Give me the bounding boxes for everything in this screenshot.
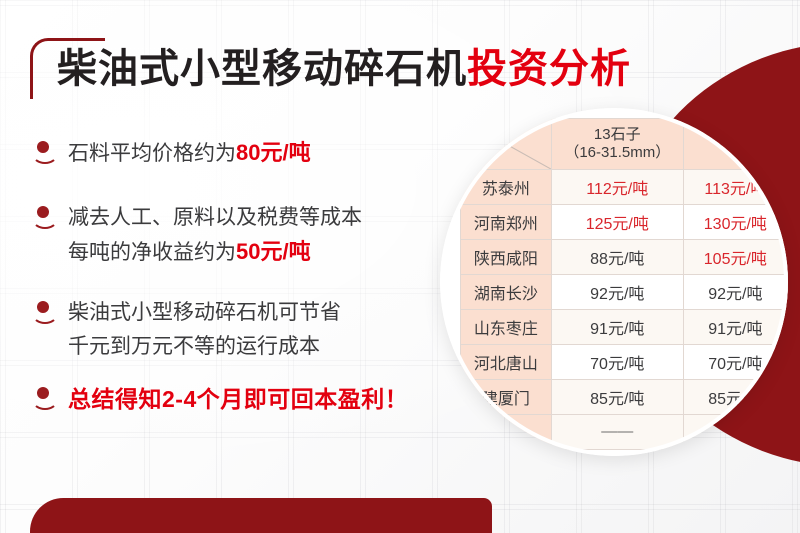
row-value-1: 85元/吨 bbox=[551, 380, 683, 415]
decorative-red-bar-bottom bbox=[30, 498, 492, 533]
bullet-line: 石料平均价格约为80元/吨 bbox=[68, 136, 430, 171]
page-title-accent: 投资分析 bbox=[467, 47, 631, 91]
page-title: 柴油式小型移动碎石机投资分析 bbox=[57, 47, 631, 91]
diagonal-slash-icon bbox=[461, 119, 551, 169]
table-row: —— bbox=[461, 415, 788, 450]
bullet-text: 石料平均价格约为 bbox=[68, 142, 236, 165]
table-row: 山东枣庄 91元/吨 91元/吨 bbox=[461, 310, 788, 345]
bullet-text: 千元到万元不等的运行成本 bbox=[68, 335, 320, 358]
row-value-2: 130元/吨 bbox=[683, 205, 787, 240]
page-title-main: 柴油式小型移动碎石机 bbox=[57, 47, 467, 91]
row-value-1: 88元/吨 bbox=[551, 240, 683, 275]
bullet-text: 减去人工、原料以及税费等成本 bbox=[68, 206, 362, 229]
table-row: 建厦门 85元/吨 85元/吨 bbox=[461, 380, 788, 415]
row-value-1: —— bbox=[551, 415, 683, 450]
table-row: 陕西咸阳 88元/吨 105元/吨 bbox=[461, 240, 788, 275]
table-row: 河北唐山 70元/吨 70元/吨 bbox=[461, 345, 788, 380]
row-value-2: 85元/吨 bbox=[683, 380, 787, 415]
bullet-line: 减去人工、原料以及税费等成本 bbox=[68, 201, 430, 235]
row-value-2 bbox=[683, 415, 787, 450]
list-item: 柴油式小型移动碎石机可节省 千元到万元不等的运行成本 bbox=[30, 296, 430, 364]
table-header-row: 13石子 （16-31.5mm） （10-… bbox=[461, 119, 788, 170]
table-row: 湖南长沙 92元/吨 92元/吨 bbox=[461, 275, 788, 310]
table-row: 河南郑州 125元/吨 130元/吨 bbox=[461, 205, 788, 240]
row-value-2: 91元/吨 bbox=[683, 310, 787, 345]
bullet-dot-arc-icon bbox=[32, 141, 54, 161]
price-table: 13石子 （16-31.5mm） （10-… 苏泰州 112元/吨 113元/吨 bbox=[460, 118, 788, 450]
table-col-header-1: 13石子 （16-31.5mm） bbox=[551, 119, 683, 170]
poster-canvas: 柴油式小型移动碎石机投资分析 石料平均价格约为80元/吨 减去人工、原料以及税费… bbox=[0, 0, 800, 533]
bullet-dot-arc-icon bbox=[32, 301, 54, 321]
row-region: 山东枣庄 bbox=[461, 310, 552, 345]
list-item: 总结得知2-4个月即可回本盈利！ bbox=[30, 382, 430, 416]
price-table-body: 苏泰州 112元/吨 113元/吨 河南郑州 125元/吨 130元/吨 陕西咸… bbox=[461, 170, 788, 450]
row-value-1: 125元/吨 bbox=[551, 205, 683, 240]
row-value-2: 70元/吨 bbox=[683, 345, 787, 380]
row-region: 湖南长沙 bbox=[461, 275, 552, 310]
row-value-1: 92元/吨 bbox=[551, 275, 683, 310]
bullet-text: 总结得知2-4个月即可回本盈利！ bbox=[68, 386, 408, 412]
row-region: 苏泰州 bbox=[461, 170, 552, 205]
bullet-line: 每吨的净收益约为50元/吨 bbox=[68, 235, 430, 270]
table-row: 苏泰州 112元/吨 113元/吨 bbox=[461, 170, 788, 205]
header-line-2: （16-31.5mm） bbox=[562, 144, 673, 162]
row-value-1: 91元/吨 bbox=[551, 310, 683, 345]
bullet-list: 石料平均价格约为80元/吨 减去人工、原料以及税费等成本 每吨的净收益约为50元… bbox=[30, 136, 430, 430]
list-item: 石料平均价格约为80元/吨 bbox=[30, 136, 430, 171]
bullet-highlight: 50元/吨 bbox=[236, 239, 311, 264]
bullet-dot-arc-icon bbox=[32, 387, 54, 407]
table-corner-cell bbox=[461, 119, 552, 170]
header-line-2: （10-… bbox=[694, 135, 777, 153]
table-col-header-2: （10-… bbox=[683, 119, 787, 170]
row-value-1: 70元/吨 bbox=[551, 345, 683, 380]
row-value-1: 112元/吨 bbox=[551, 170, 683, 205]
price-table-head: 13石子 （16-31.5mm） （10-… bbox=[461, 119, 788, 170]
row-region: 河南郑州 bbox=[461, 205, 552, 240]
bullet-line-conclusion: 总结得知2-4个月即可回本盈利！ bbox=[68, 382, 430, 416]
bullet-line: 柴油式小型移动碎石机可节省 bbox=[68, 296, 430, 330]
bullet-text: 柴油式小型移动碎石机可节省 bbox=[68, 301, 341, 324]
bullet-dot-arc-icon bbox=[32, 206, 54, 226]
row-value-2: 105元/吨 bbox=[683, 240, 787, 275]
bullet-line: 千元到万元不等的运行成本 bbox=[68, 330, 430, 364]
row-region: 河北唐山 bbox=[461, 345, 552, 380]
row-value-2: 92元/吨 bbox=[683, 275, 787, 310]
bullet-highlight: 80元/吨 bbox=[236, 140, 311, 165]
bullet-text: 每吨的净收益约为 bbox=[68, 241, 236, 264]
price-table-circle: 13石子 （16-31.5mm） （10-… 苏泰州 112元/吨 113元/吨 bbox=[440, 108, 788, 456]
row-value-2: 113元/吨 bbox=[683, 170, 787, 205]
row-region bbox=[461, 415, 552, 450]
row-region: 建厦门 bbox=[461, 380, 552, 415]
header-line-1: 13石子 bbox=[562, 126, 673, 144]
row-region: 陕西咸阳 bbox=[461, 240, 552, 275]
list-item: 减去人工、原料以及税费等成本 每吨的净收益约为50元/吨 bbox=[30, 201, 430, 270]
